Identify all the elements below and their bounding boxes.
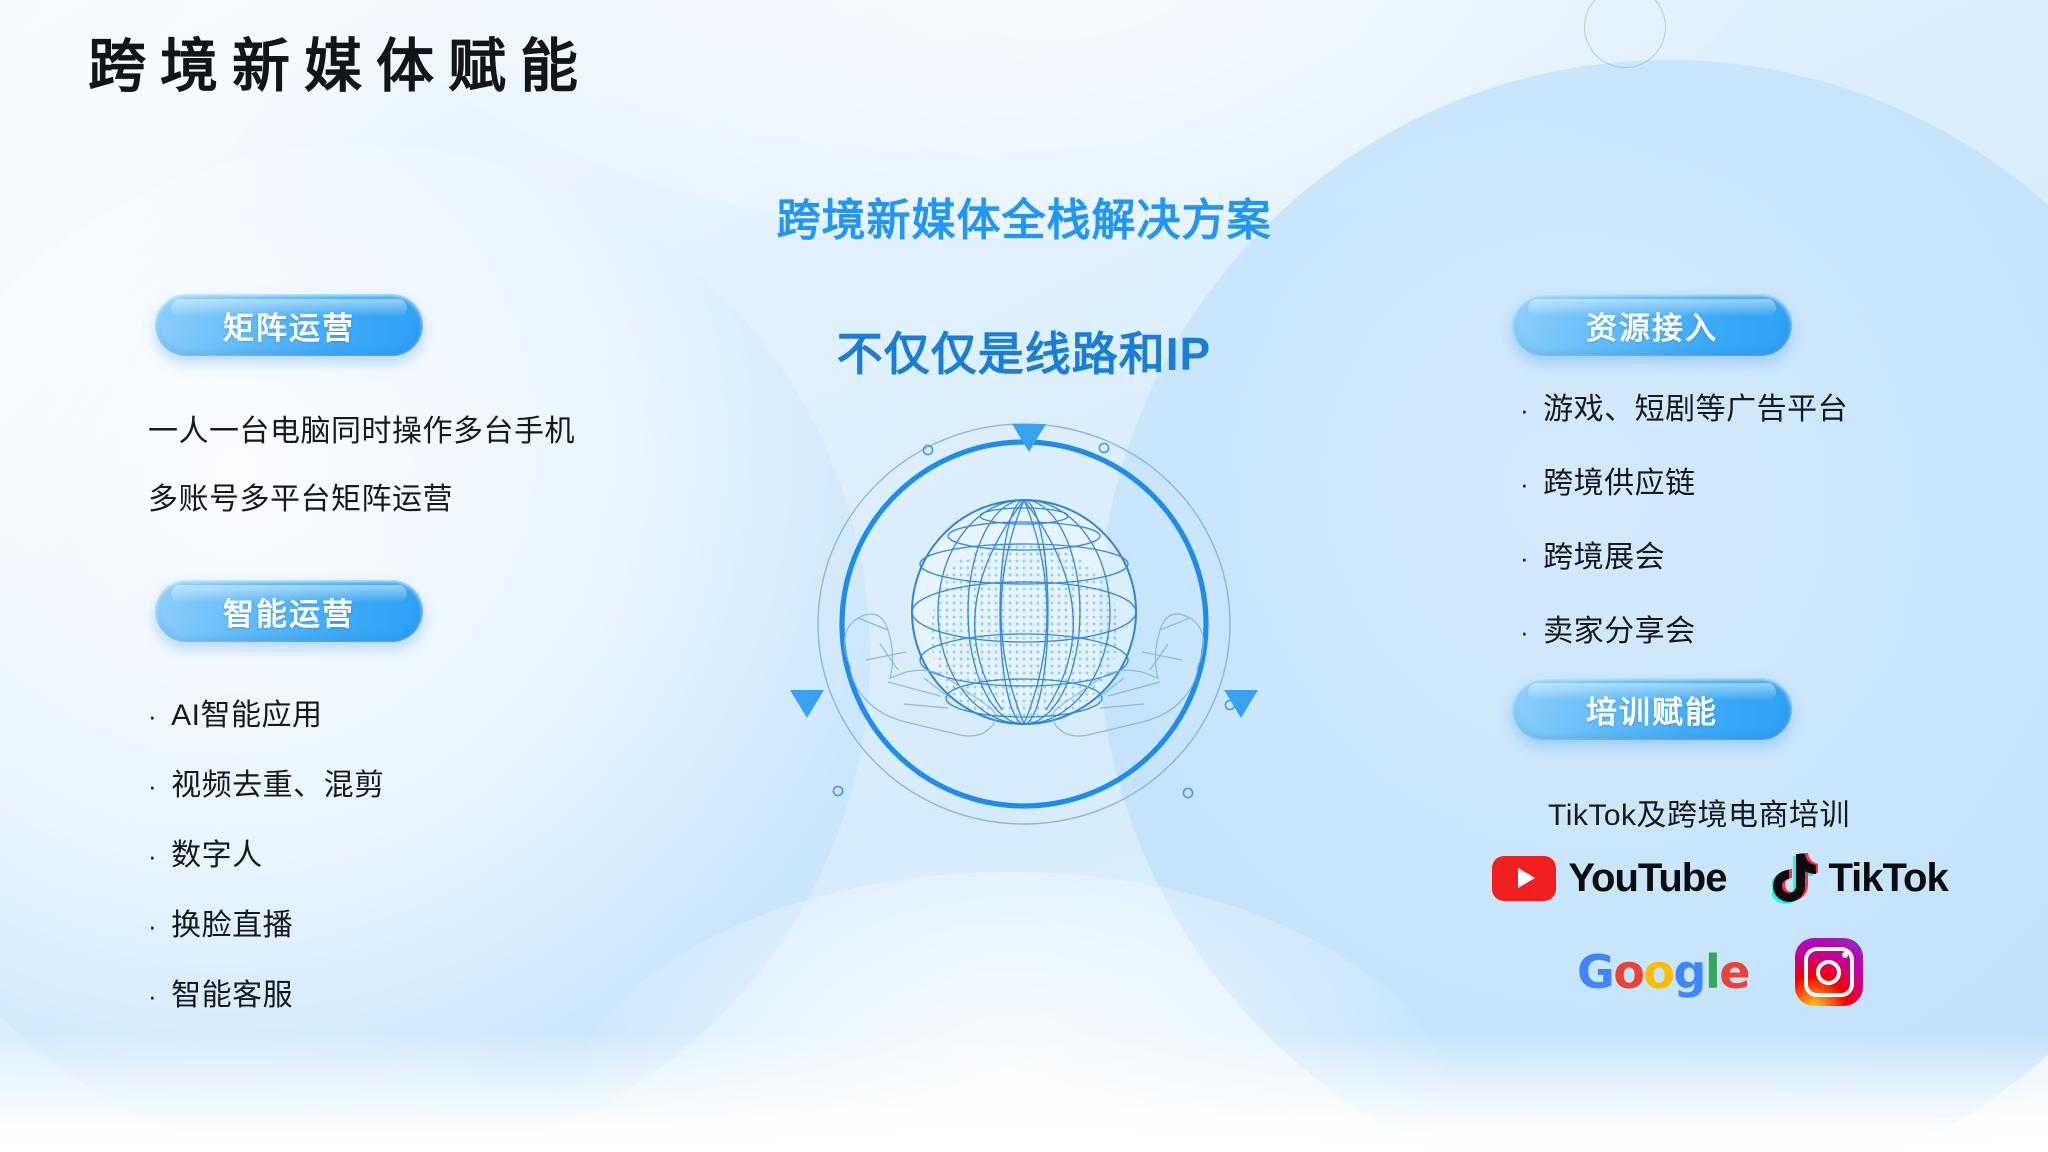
list-item-label: AI智能应用 bbox=[171, 690, 322, 734]
marker-triangle-right bbox=[1224, 690, 1258, 718]
decorative-ring-outline bbox=[1584, 0, 1666, 68]
google-letter-o1: o bbox=[1613, 945, 1643, 999]
list-item-label: 数字人 bbox=[171, 830, 263, 874]
logo-row-1: YouTube TikTok bbox=[1500, 852, 1940, 904]
tiktok-wordmark: TikTok bbox=[1828, 856, 1947, 901]
training-note: TikTok及跨境电商培训 bbox=[1548, 790, 1850, 834]
bullet-dot-icon: · bbox=[1520, 619, 1529, 645]
youtube-wordmark: YouTube bbox=[1568, 856, 1726, 901]
list-item: · 跨境供应链 bbox=[1520, 458, 1848, 502]
bullet-dot-icon: · bbox=[1520, 471, 1529, 497]
google-logo[interactable]: Google bbox=[1577, 945, 1749, 999]
youtube-logo[interactable]: YouTube bbox=[1492, 856, 1726, 901]
smart-operations-list: · AI智能应用 · 视频去重、混剪 · 数字人 · 换脸直播 · 智能客服 bbox=[148, 690, 385, 1040]
section-pill-resource-access[interactable]: 资源接入 bbox=[1512, 294, 1792, 356]
list-item-label: 跨境展会 bbox=[1543, 532, 1665, 576]
bullet-dot-icon: · bbox=[148, 843, 157, 869]
list-item: · 智能客服 bbox=[148, 970, 385, 1014]
page-title: 跨境新媒体赋能 bbox=[88, 38, 592, 96]
list-item: · 数字人 bbox=[148, 830, 385, 874]
slide-canvas: 跨境新媒体赋能 跨境新媒体全栈解决方案 不仅仅是线路和IP bbox=[0, 0, 2048, 1152]
list-item: · 跨境展会 bbox=[1520, 532, 1848, 576]
instagram-dot-icon bbox=[1842, 952, 1848, 958]
google-letter-l: l bbox=[1705, 945, 1719, 999]
list-item-label: 卖家分享会 bbox=[1543, 606, 1696, 650]
list-item-label: 视频去重、混剪 bbox=[171, 760, 385, 804]
section-pill-smart-operations[interactable]: 智能运营 bbox=[155, 580, 423, 642]
wireframe-globe bbox=[912, 500, 1136, 727]
marker-triangle-left bbox=[790, 690, 824, 718]
headline-primary: 跨境新媒体全栈解决方案 bbox=[0, 184, 2048, 248]
list-item: · AI智能应用 bbox=[148, 690, 385, 734]
list-item: · 卖家分享会 bbox=[1520, 606, 1848, 650]
brand-logo-group: YouTube TikTok Google bbox=[1500, 852, 1940, 1040]
list-item-label: 跨境供应链 bbox=[1543, 458, 1696, 502]
marker-triangle-top bbox=[1012, 424, 1046, 452]
instagram-lens-icon bbox=[1816, 960, 1841, 985]
list-item: · 游戏、短剧等广告平台 bbox=[1520, 384, 1848, 428]
list-item-label: 游戏、短剧等广告平台 bbox=[1543, 384, 1848, 428]
globe-in-hands-illustration bbox=[784, 412, 1264, 852]
google-letter-o2: o bbox=[1643, 945, 1673, 999]
list-item-label: 换脸直播 bbox=[171, 900, 293, 944]
section-pill-matrix-operations[interactable]: 矩阵运营 bbox=[155, 294, 423, 356]
list-item: · 视频去重、混剪 bbox=[148, 760, 385, 804]
bullet-dot-icon: · bbox=[1520, 545, 1529, 571]
bullet-dot-icon: · bbox=[1520, 397, 1529, 423]
bullet-dot-icon: · bbox=[148, 983, 157, 1009]
resource-access-list: · 游戏、短剧等广告平台 · 跨境供应链 · 跨境展会 · 卖家分享会 bbox=[1520, 384, 1848, 680]
tiktok-logo[interactable]: TikTok bbox=[1772, 852, 1947, 904]
logo-row-2: Google bbox=[1500, 938, 1940, 1006]
matrix-line-2: 多账号多平台矩阵运营 bbox=[148, 474, 453, 518]
bottom-fade bbox=[0, 1032, 2048, 1152]
list-item: · 换脸直播 bbox=[148, 900, 385, 944]
section-pill-training-empowerment[interactable]: 培训赋能 bbox=[1512, 678, 1792, 740]
bullet-dot-icon: · bbox=[148, 913, 157, 939]
matrix-line-1: 一人一台电脑同时操作多台手机 bbox=[148, 406, 575, 450]
bullet-dot-icon: · bbox=[148, 773, 157, 799]
google-letter-e: e bbox=[1719, 945, 1749, 999]
tiktok-note-icon bbox=[1772, 852, 1818, 904]
google-letter-g1: G bbox=[1577, 945, 1613, 999]
bullet-dot-icon: · bbox=[148, 703, 157, 729]
youtube-play-icon bbox=[1492, 856, 1556, 901]
instagram-logo[interactable] bbox=[1795, 938, 1863, 1006]
google-letter-g2: g bbox=[1674, 945, 1705, 999]
background-circle-left bbox=[0, 145, 870, 1152]
list-item-label: 智能客服 bbox=[171, 970, 293, 1014]
